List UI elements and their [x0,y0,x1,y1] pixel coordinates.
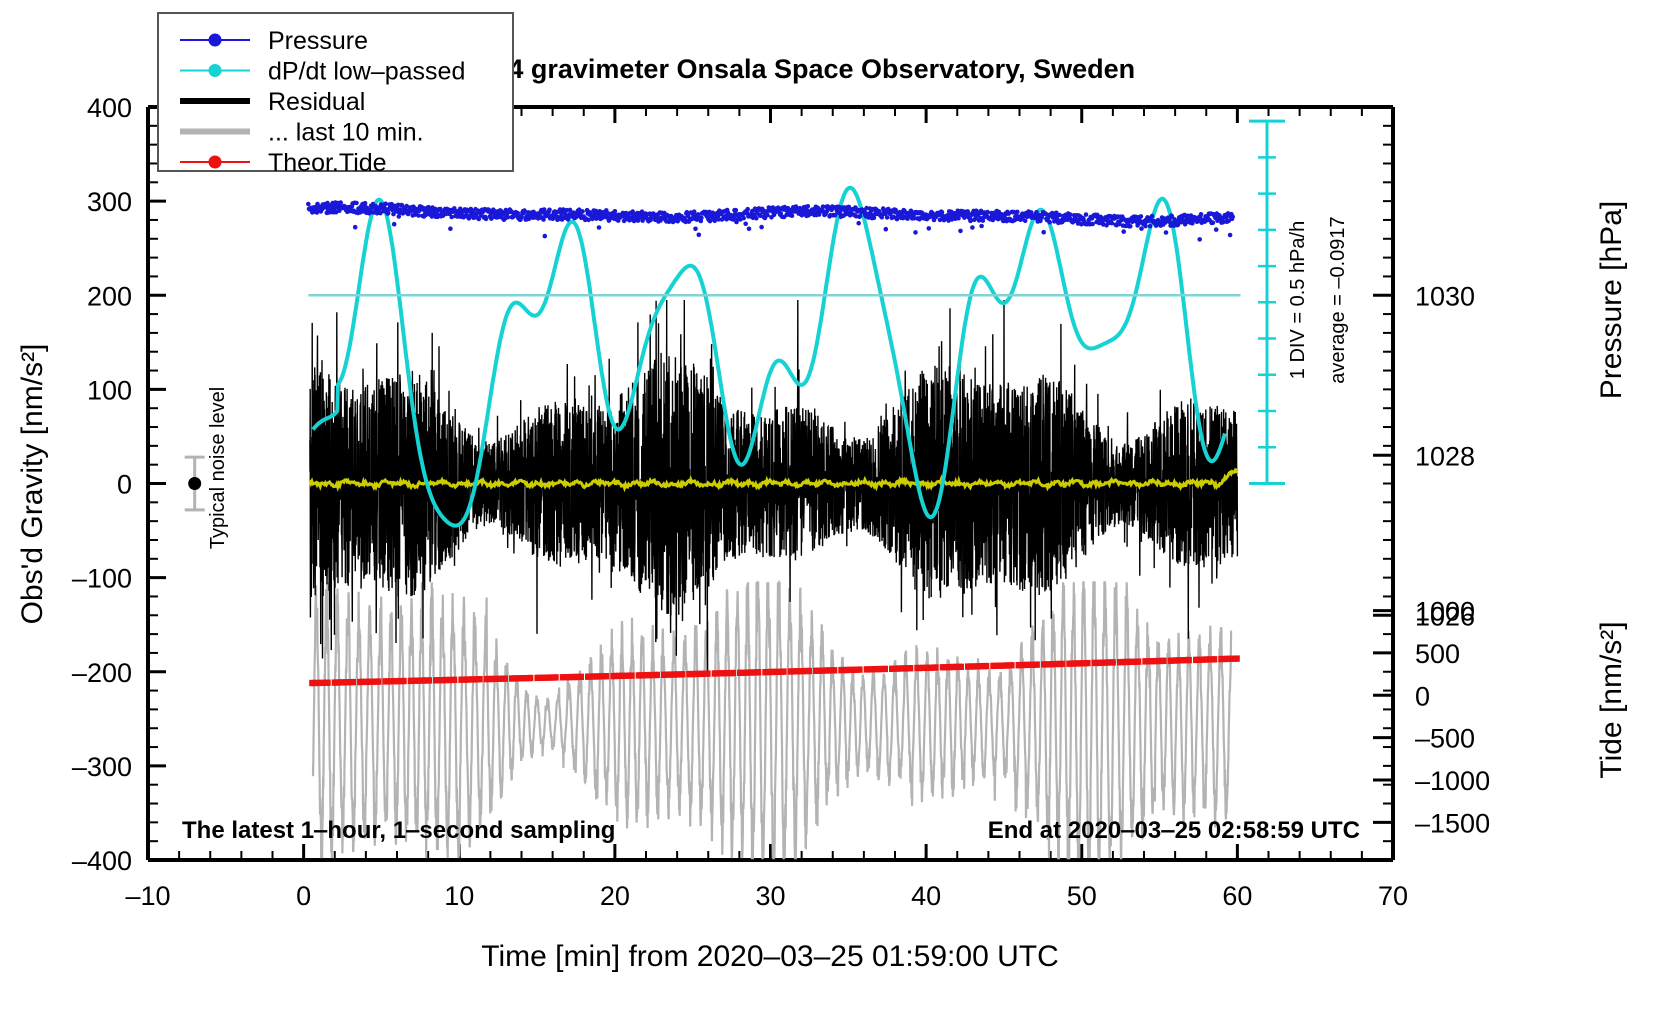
legend-label: Residual [268,88,365,116]
y-tick-label: ‒300 [72,752,132,782]
gravimeter-chart: ‒100102030405060704003002001000‒100‒200‒… [0,0,1660,1020]
tide-tick-label: ‒1500 [1415,808,1490,838]
x-tick-label: 30 [755,881,785,911]
y-tick-label: ‒400 [72,846,132,876]
chart-title: SCG_054 gravimeter Onsala Space Observat… [405,54,1135,84]
tide-tick-label: 0 [1415,681,1430,711]
legend-label: ... last 10 min. [268,119,424,147]
legend-label: dP/dt low‒passed [268,58,465,86]
noise-note: Typical noise level [207,387,229,549]
y-tick-label: 0 [117,470,132,500]
y-tick-label: ‒200 [72,658,132,688]
tide-tick-label: 500 [1415,639,1460,669]
y-tick-label: 100 [87,375,132,405]
x-tick-label: ‒10 [125,881,170,911]
chart-root: ‒100102030405060704003002001000‒100‒200‒… [0,0,1660,1020]
legend: PressuredP/dt low‒passedResidual... last… [158,13,513,177]
tide-tick-label: ‒1000 [1415,766,1490,796]
bottom-right-note: End at 2020‒03‒25 02:58:59 UTC [988,817,1360,844]
tide-tick-label: 1000 [1415,597,1475,627]
y-tick-label: ‒100 [72,564,132,594]
x-tick-label: 40 [911,881,941,911]
average-note: average = ‒0.0917 [1327,216,1349,383]
x-tick-label: 0 [296,881,311,911]
right-axis-label-pressure: Pressure [hPa] [1595,201,1628,399]
pressure-tick-label: 1030 [1415,281,1475,311]
y-tick-label: 400 [87,93,132,123]
legend-label: Theor.Tide [268,149,387,177]
x-tick-label: 10 [444,881,474,911]
pressure-tick-label: 1028 [1415,441,1475,471]
legend-label: Pressure [268,27,368,55]
y-tick-label: 200 [87,281,132,311]
x-tick-label: 70 [1378,881,1408,911]
bottom-left-note: The latest 1‒hour, 1‒second sampling [182,817,615,844]
div-note: 1 DIV = 0.5 hPa/h [1287,221,1309,379]
right-axis-label-tide: Tide [nm/s²] [1595,621,1628,778]
x-tick-label: 60 [1222,881,1252,911]
x-tick-label: 20 [600,881,630,911]
y-axis-label: Obs'd Gravity [nm/s²] [16,344,49,625]
tide-tick-label: ‒500 [1415,724,1475,754]
x-axis-label: Time [min] from 2020‒03‒25 01:59:00 UTC [481,940,1059,973]
y-tick-label: 300 [87,187,132,217]
x-tick-label: 50 [1067,881,1097,911]
